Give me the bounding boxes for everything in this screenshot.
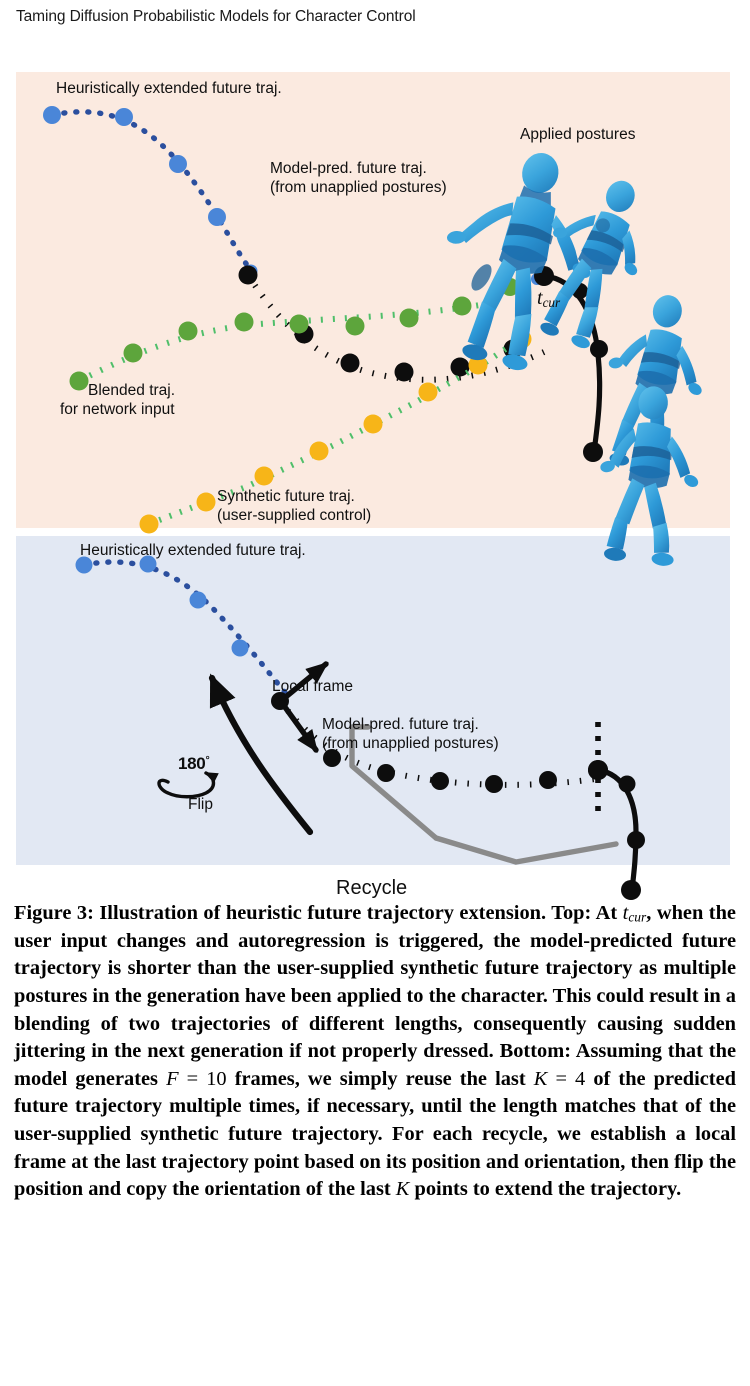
caption-label: Figure 3: [14,902,94,924]
caption-tcur: tcur [623,902,647,924]
caption-text-2: , when the user input changes and autore… [14,902,736,1090]
t-cur-subscript: cur [543,295,561,310]
blue-trajectory-dashes-bottom [84,562,288,696]
caption-text-3: frames, we simply reuse the last [227,1068,534,1090]
caption-F-value: 10 [206,1068,226,1090]
label-model-pred-top-line2: (from unapplied postures) [270,179,447,197]
label-recycle: Recycle [336,877,407,901]
label-180-degrees: 180° [178,754,209,774]
label-heuristic-traj-top: Heuristically extended future traj. [56,80,282,98]
green-blended-trajectory-points [70,278,520,391]
label-heuristic-traj-bottom: Heuristically extended future traj. [80,542,306,560]
blue-trajectory-points [43,106,258,278]
label-blended-traj-line1: Blended traj. [88,382,175,400]
caption-K-symbol-2: K [396,1178,410,1200]
degree-value: 180 [178,754,205,773]
caption-text-5: points to extend the trajectory. [409,1178,681,1200]
label-synthetic-traj-line2: (user-supplied control) [217,507,371,525]
caption-text-1: Illustration of heuristic future traject… [94,902,623,924]
character-posture-4 [589,381,709,568]
blue-trajectory-points-bottom [76,556,249,657]
caption-F-symbol: F [166,1068,178,1090]
caption-K-eq: = [547,1068,575,1090]
green-blended-trajectory-dashes [79,304,486,381]
label-model-pred-top-line1: Model-pred. future traj. [270,160,427,178]
label-model-pred-bottom-line2: (from unapplied postures) [322,735,499,753]
paper-page: Taming Diffusion Probabilistic Models fo… [0,0,750,1386]
label-local-frame: Local frame [272,678,353,696]
label-model-pred-bottom-line1: Model-pred. future traj. [322,716,479,734]
label-blended-traj-line2: for network input [60,401,175,419]
figure-caption: Figure 3: Illustration of heuristic futu… [14,900,736,1204]
figure-3: Heuristically extended future traj. Mode… [16,72,730,865]
running-head: Taming Diffusion Probabilistic Models fo… [16,8,416,26]
blue-trajectory-dashes [52,112,258,280]
label-flip: Flip [188,796,213,814]
rotation-arrow-icon [159,773,214,797]
local-frame-arrow-down [282,703,316,750]
caption-K-symbol: K [534,1068,548,1090]
recycle-bracket-right [436,838,616,862]
label-applied-postures: Applied postures [520,126,635,144]
caption-F-eq: = [179,1068,207,1090]
flip-arrow [212,678,310,832]
degree-sign: ° [205,754,209,766]
label-synthetic-traj-line1: Synthetic future traj. [217,488,355,506]
caption-K-value: 4 [575,1068,585,1090]
label-t-cur: tcur [537,287,560,311]
